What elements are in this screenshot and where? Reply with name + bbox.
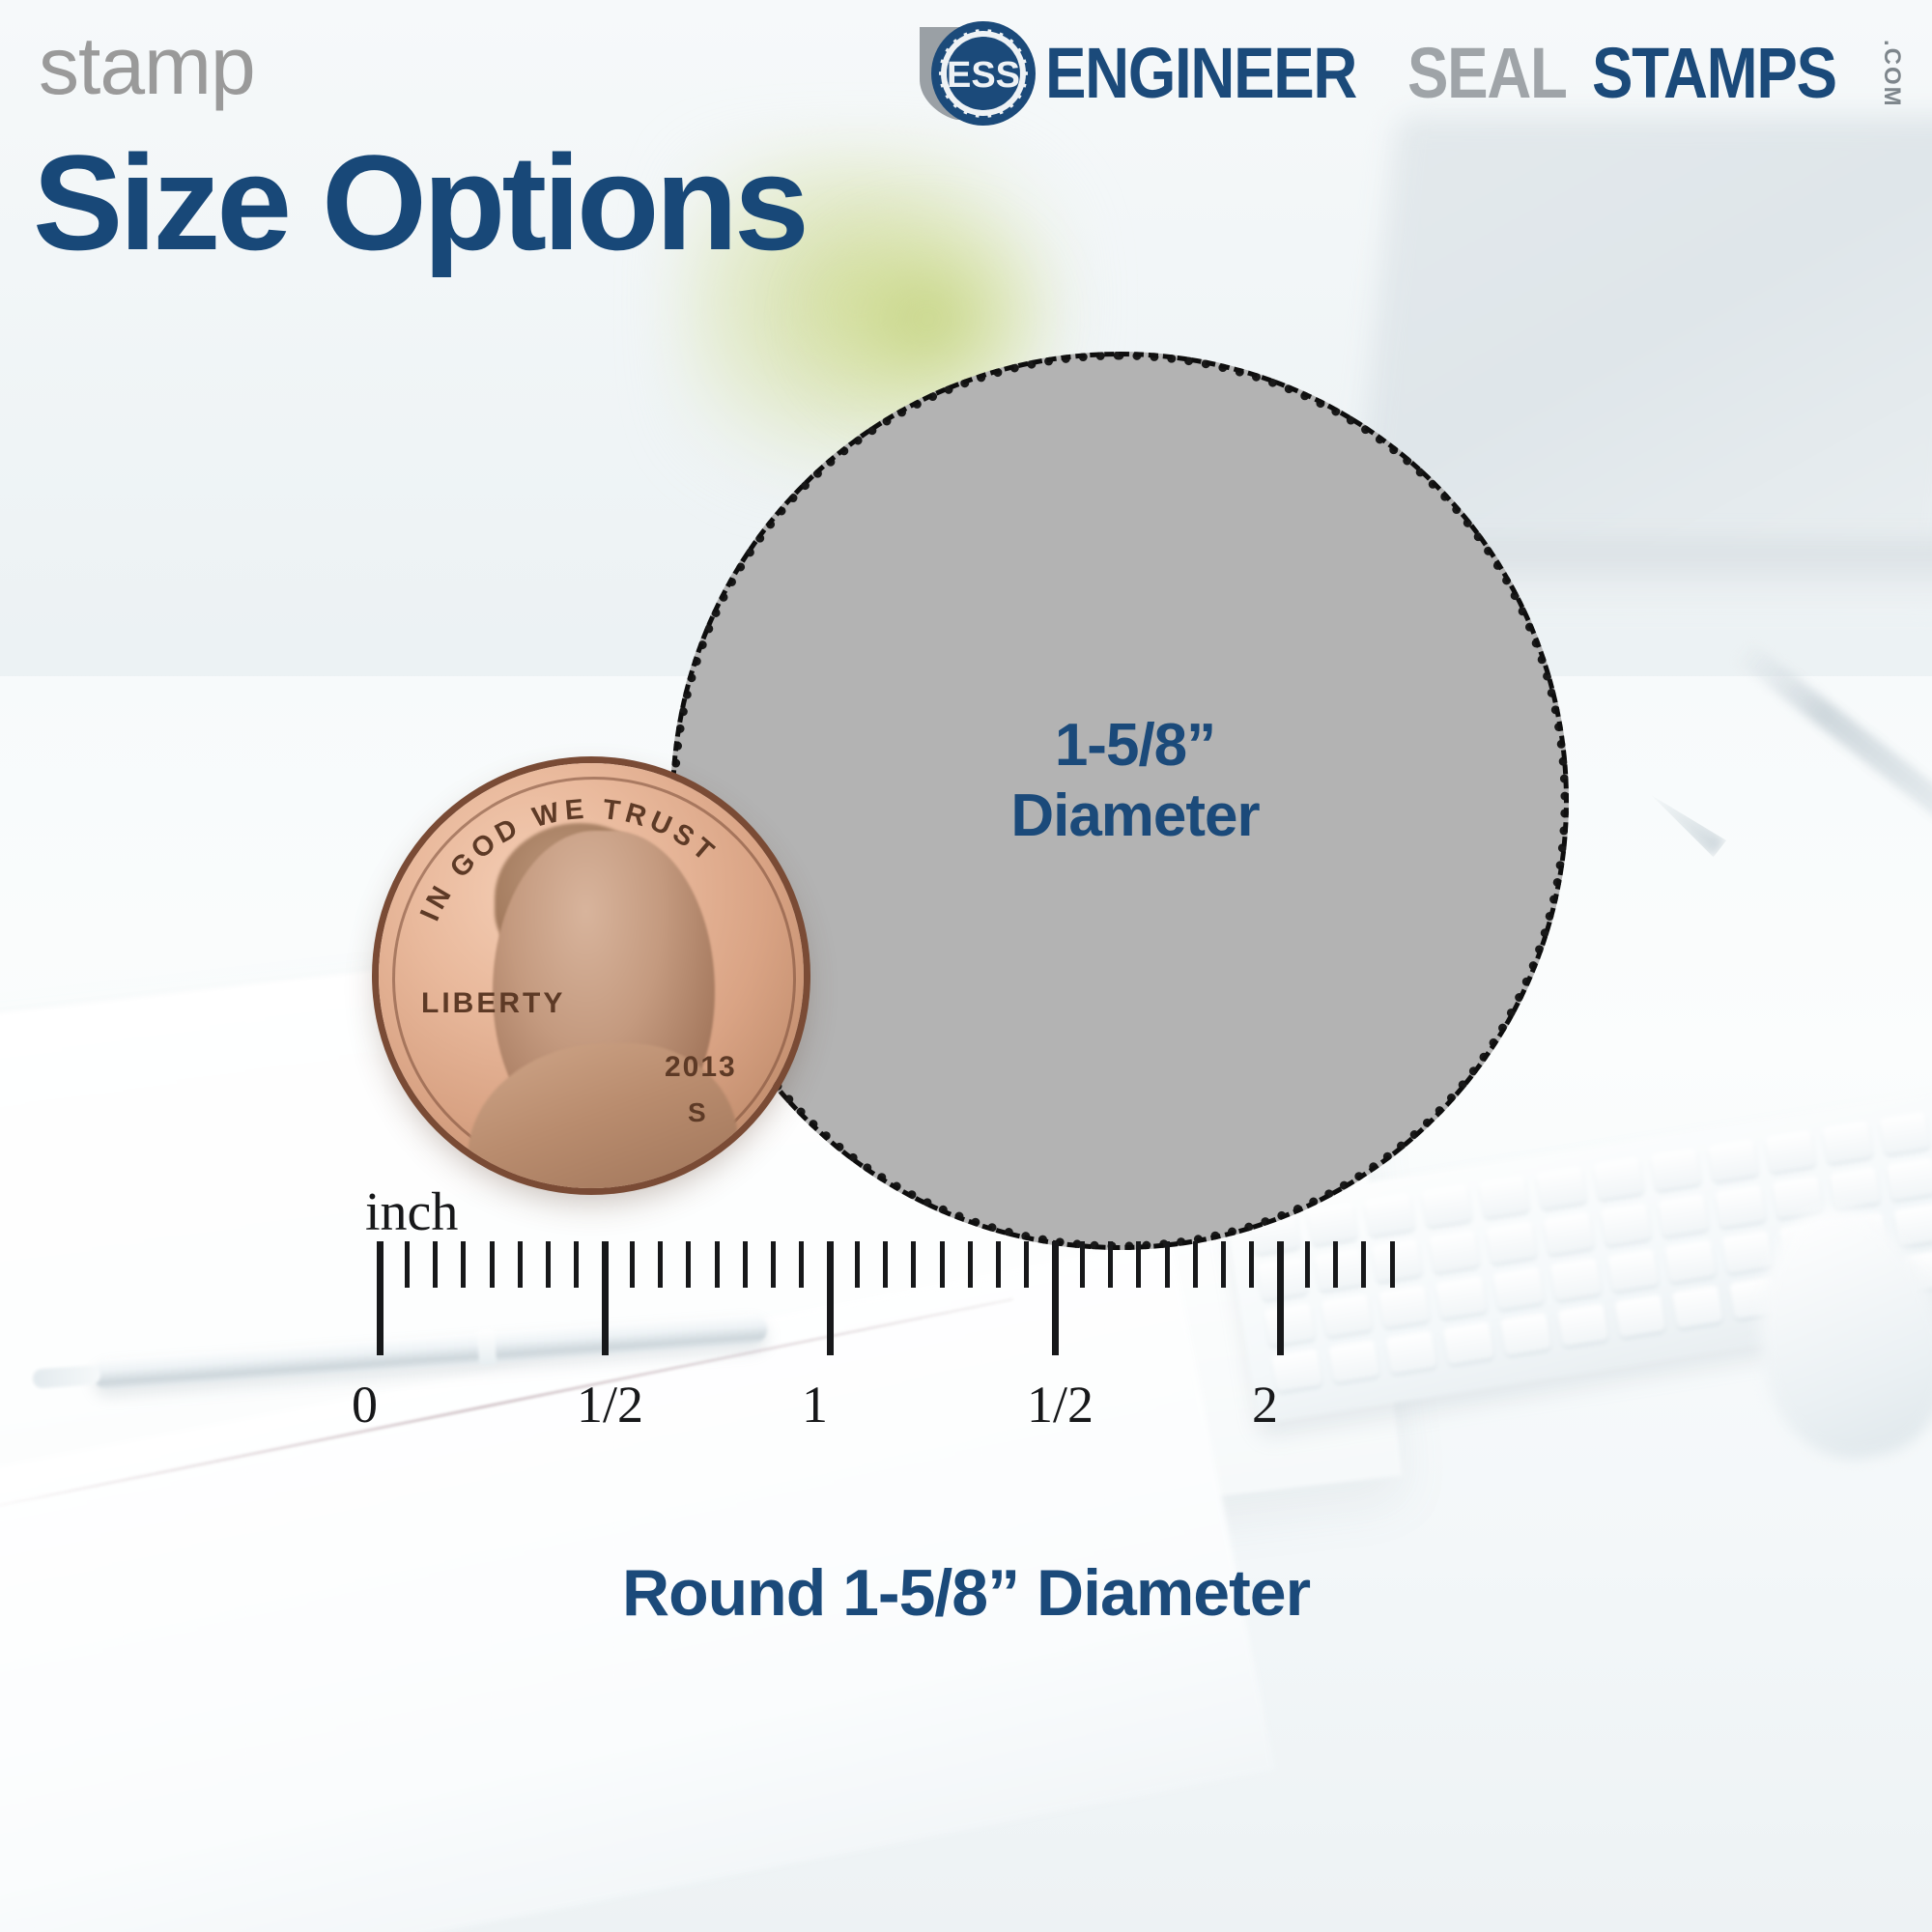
ruler-minor-tick <box>1080 1241 1085 1288</box>
stamp-size-label: 1-5/8” Diameter <box>908 710 1362 851</box>
penny-motto-arc: IN GOD WE TRUST <box>379 763 804 1188</box>
ruler-minor-tick <box>996 1241 1001 1288</box>
ruler-minor-tick <box>630 1241 635 1288</box>
svg-text:IN GOD WE TRUST: IN GOD WE TRUST <box>414 794 723 926</box>
size-options-graphic: stamp Size Options ESS ENGINEER SEAL STA… <box>0 0 1932 1932</box>
ruler-major-tick <box>1052 1241 1059 1355</box>
ruler-tick-label: 1/2 <box>1027 1375 1094 1435</box>
ruler-minor-tick <box>433 1241 438 1288</box>
ruler-minor-tick <box>855 1241 860 1288</box>
ruler-minor-tick <box>574 1241 579 1288</box>
keyboard-key <box>1893 1204 1932 1247</box>
penny-mintmark-text: S <box>688 1097 706 1128</box>
ruler-minor-tick <box>799 1241 804 1288</box>
penny-year-text: 2013 <box>665 1051 737 1084</box>
logo-mark: ESS <box>908 17 1028 129</box>
inch-ruler: inch 01/211/22 <box>0 1241 1932 1492</box>
ruler-minor-tick <box>940 1241 945 1288</box>
keyboard-key <box>1887 1157 1932 1201</box>
gear-icon: ESS <box>931 21 1036 126</box>
ruler-minor-tick <box>658 1241 663 1288</box>
keyboard-key <box>1658 1194 1709 1237</box>
ruler-tick-label: 1/2 <box>577 1375 643 1435</box>
logo-word-engineer: ENGINEER <box>1045 38 1356 109</box>
ruler-minor-tick <box>518 1241 523 1288</box>
keyboard-key <box>1593 1157 1644 1201</box>
page-title: Size Options <box>33 135 806 270</box>
ruler-minor-tick <box>968 1241 973 1288</box>
keyboard-key <box>1822 1121 1873 1164</box>
keyboard-key <box>1478 1175 1529 1218</box>
keyboard-key <box>1364 1193 1415 1236</box>
stamp-size-label-line2: Diameter <box>908 781 1362 851</box>
ruler-minor-tick <box>1333 1241 1338 1288</box>
ruler-minor-tick <box>1221 1241 1226 1288</box>
ruler-minor-tick <box>1024 1241 1029 1288</box>
ruler-minor-tick <box>686 1241 691 1288</box>
brand-logo[interactable]: ESS ENGINEER SEAL STAMPS .COM <box>908 17 1903 129</box>
ruler-minor-tick <box>461 1241 466 1288</box>
keyboard-key <box>1536 1166 1587 1209</box>
ruler-minor-tick <box>1305 1241 1310 1288</box>
ruler-major-tick <box>1277 1241 1284 1355</box>
ruler-minor-tick <box>1165 1241 1170 1288</box>
keyboard-key <box>1829 1166 1880 1209</box>
logo-word-seal: SEAL <box>1407 38 1567 109</box>
ruler-minor-tick <box>911 1241 916 1288</box>
keyboard-key <box>1600 1203 1651 1246</box>
ruler-minor-tick <box>1108 1241 1113 1288</box>
ruler-minor-tick <box>546 1241 551 1288</box>
ruler-minor-tick <box>715 1241 720 1288</box>
ruler-tick-label: 2 <box>1252 1375 1278 1435</box>
ruler-major-tick <box>827 1241 834 1355</box>
ruler-unit-label: inch <box>365 1181 458 1243</box>
ruler-minor-tick <box>1249 1241 1254 1288</box>
logo-word-stamps: STAMPS <box>1592 38 1836 109</box>
ruler-tick-label: 1 <box>802 1375 828 1435</box>
penny-coin: IN GOD WE TRUST LIBERTY 2013 S <box>379 763 804 1188</box>
ruler-minor-tick <box>883 1241 888 1288</box>
ruler-minor-tick <box>743 1241 748 1288</box>
keyboard-key <box>1307 1203 1358 1246</box>
eyebrow-label: stamp <box>39 25 255 106</box>
ruler-minor-tick <box>1193 1241 1198 1288</box>
keyboard-key <box>1650 1148 1701 1191</box>
ruler-minor-tick <box>1136 1241 1141 1288</box>
keyboard-key <box>1421 1184 1472 1228</box>
size-caption: Round 1-5/8” Diameter <box>0 1555 1932 1631</box>
keyboard-key <box>1707 1139 1758 1182</box>
keyboard-key <box>1765 1129 1816 1173</box>
ruler-major-tick <box>377 1241 384 1355</box>
ruler-minor-tick <box>1361 1241 1366 1288</box>
penny-liberty-text: LIBERTY <box>421 987 565 1020</box>
ruler-minor-tick <box>771 1241 776 1288</box>
ruler-minor-tick <box>490 1241 495 1288</box>
logo-wordmark: ENGINEER SEAL STAMPS .COM <box>1045 38 1903 109</box>
stamp-size-label-line1: 1-5/8” <box>908 710 1362 781</box>
ruler-major-tick <box>602 1241 609 1355</box>
ruler-minor-tick <box>1390 1241 1395 1288</box>
ruler-minor-tick <box>405 1241 410 1288</box>
keyboard-key <box>1715 1184 1766 1228</box>
ruler-tick-label: 0 <box>352 1375 378 1435</box>
logo-word-dotcom: .COM <box>1880 40 1903 108</box>
keyboard-key <box>1879 1112 1930 1155</box>
svg-text:ESS: ESS <box>947 55 1020 96</box>
